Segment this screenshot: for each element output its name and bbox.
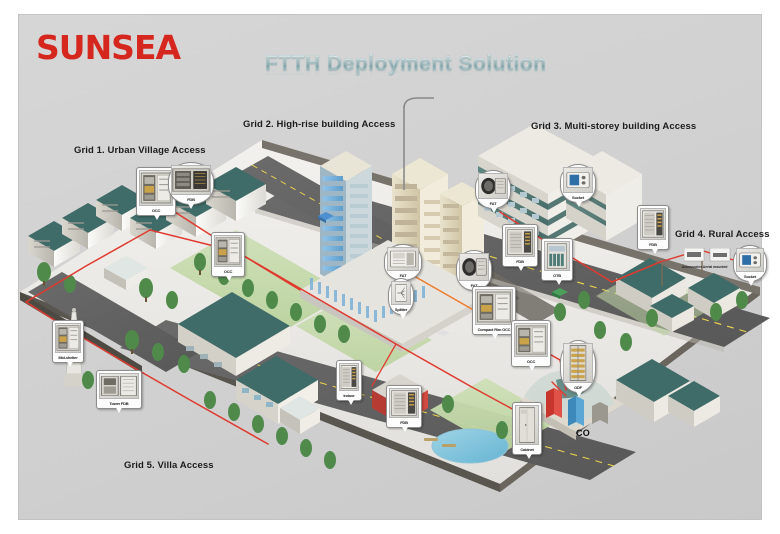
- callout-tail: [491, 332, 499, 339]
- callout-tail: [115, 406, 123, 413]
- co-label: CO: [576, 428, 590, 438]
- callout-tail: [575, 390, 583, 397]
- callout-occ[interactable]: OCC: [511, 320, 551, 367]
- callout-occ[interactable]: OCC: [211, 232, 245, 277]
- grid-label-4: Grid 4. Rural Access: [675, 229, 770, 240]
- fdb-box-icon: [505, 227, 535, 257]
- callout-compact-rim-occ[interactable]: Compact Rim OCC: [472, 286, 516, 335]
- callout-tail: [153, 213, 161, 220]
- rural-accessory-caption: Accessories Aerial mounted: [682, 265, 727, 269]
- otb-box-icon: [544, 241, 570, 271]
- fdb-box-icon: [640, 208, 666, 240]
- callout-fat[interactable]: FAT: [475, 170, 511, 209]
- odf-rack-icon: [563, 343, 593, 383]
- callout-tail: [555, 278, 563, 285]
- grid-label-3: Grid 3. Multi-storey building Access: [531, 121, 696, 132]
- olt-rack-red: [546, 388, 562, 418]
- grid-label-2: Grid 2. High-rise building Access: [243, 119, 395, 130]
- tower-fdb-icon: [99, 373, 139, 399]
- callout-tail: [187, 202, 195, 209]
- callout-fdb[interactable]: FDB: [386, 385, 422, 428]
- callout-odf[interactable]: ODF: [560, 340, 596, 393]
- cabinet-open-icon: [475, 289, 513, 325]
- callout-tail: [399, 312, 407, 319]
- callout-tower-fdb[interactable]: Tower FDB: [96, 370, 142, 409]
- callout-tail: [747, 279, 755, 286]
- poster-title-block: FTTH Deployment Solution FTTH Deployment…: [265, 52, 565, 96]
- callout-fat[interactable]: FAT: [384, 244, 422, 281]
- logo-text: SUNSEA: [36, 28, 180, 67]
- callout-tail: [651, 247, 659, 254]
- socket-icon: [736, 248, 764, 272]
- callout-splitter[interactable]: Splitter: [388, 278, 414, 315]
- callout-cabinet[interactable]: Cabinet: [512, 402, 542, 455]
- callout-tail: [575, 200, 583, 207]
- ftth-deployment-poster: SUNSEA FTTH Deployment Solution FTTH Dep…: [0, 0, 780, 534]
- splitter-icon: [391, 281, 411, 305]
- wall-box-icon: [387, 247, 419, 271]
- callout-fdb[interactable]: FDB: [637, 205, 669, 250]
- callout-tail: [225, 274, 233, 281]
- callout-tail: [517, 264, 525, 271]
- fdb-box-icon: [389, 388, 419, 418]
- callout-tail: [525, 452, 533, 459]
- cabinet-open-icon: [55, 323, 81, 353]
- callout-otb[interactable]: OTB: [541, 238, 573, 281]
- callout-socket[interactable]: Socket: [733, 245, 767, 282]
- callout-mid-shelter[interactable]: Mid-shelter: [52, 320, 84, 363]
- callout-fdb[interactable]: FDB: [168, 162, 214, 205]
- cabinet-open-icon: [214, 235, 242, 267]
- callout-tail: [347, 398, 355, 405]
- fat-dome-icon: [459, 253, 489, 281]
- fat-dome-icon: [478, 173, 508, 199]
- grid-label-5: Grid 5. Villa Access: [124, 460, 214, 471]
- callout-tail: [490, 206, 498, 213]
- cabinet-open-icon: [514, 323, 548, 357]
- socket-icon: [563, 167, 593, 193]
- callout-indoor[interactable]: Indoor: [336, 360, 362, 401]
- olt-rack-blue: [568, 396, 584, 426]
- sunsea-logo: SUNSEA: [36, 31, 180, 64]
- callout-tail: [66, 360, 74, 367]
- page-title-reflection: FTTH Deployment Solution: [265, 62, 565, 77]
- fdb-box-icon: [339, 363, 359, 391]
- splice-tray-icon: [171, 165, 211, 195]
- callout-fat[interactable]: FAT: [456, 250, 492, 291]
- callout-socket[interactable]: Socket: [560, 164, 596, 203]
- callout-tail: [401, 425, 409, 432]
- grid-label-1: Grid 1. Urban Village Access: [74, 145, 206, 156]
- callout-fdb[interactable]: FDB: [502, 224, 538, 267]
- cabinet-closed-icon: [515, 405, 539, 445]
- callout-tail: [528, 364, 536, 371]
